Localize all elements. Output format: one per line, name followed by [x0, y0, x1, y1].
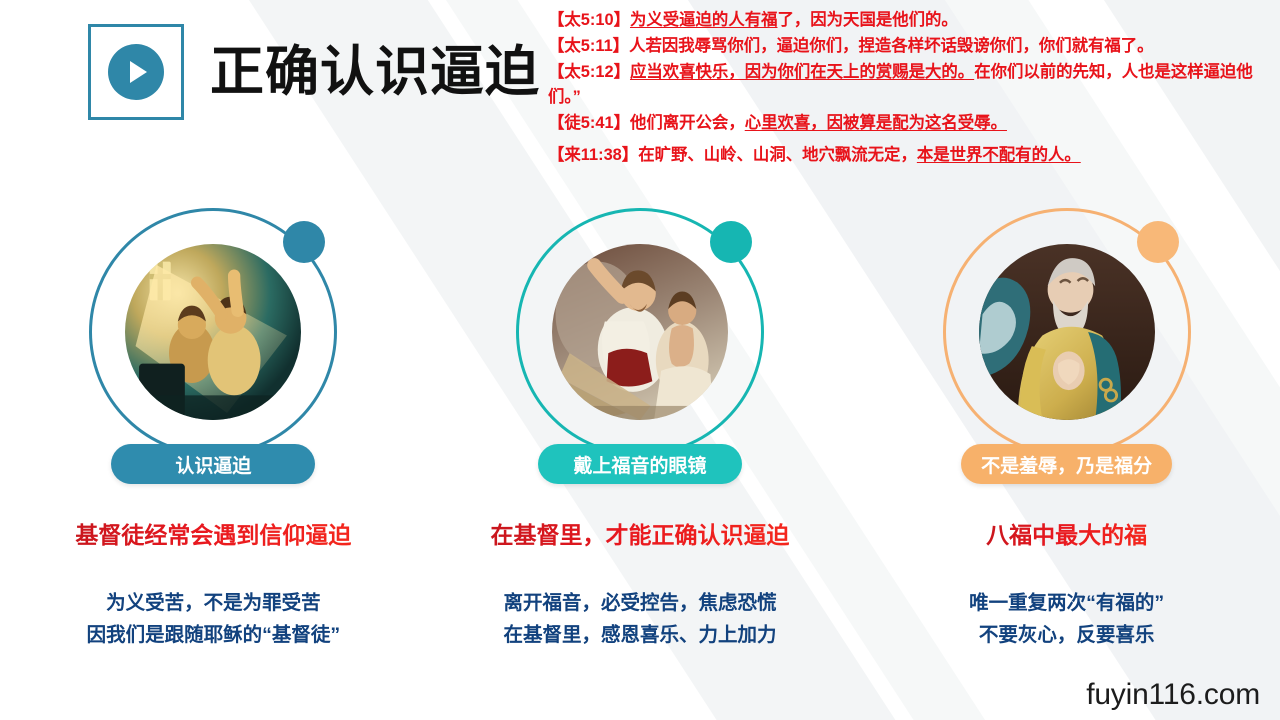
column-blue-text: 离开福音，必受控告，焦虑恐慌 在基督里，感恩喜乐、力上加力 [503, 588, 776, 651]
pill-label[interactable]: 戴上福音的眼镜 [538, 444, 742, 484]
play-button-frame-icon [88, 24, 184, 120]
column-red-heading: 八福中最大的福 [986, 516, 1147, 550]
circle-graphic [516, 208, 764, 456]
column-red-heading: 基督徒经常会遇到信仰逼迫 [75, 516, 351, 550]
column-blue-text: 为义受苦，不是为罪受苦 因我们是跟随耶稣的“基督徒” [87, 588, 341, 651]
blue-line: 因我们是跟随耶稣的“基督徒” [87, 620, 341, 652]
pill-text: 认识逼迫 [175, 451, 251, 478]
saint-peter-praying-photo [979, 244, 1155, 420]
pill-label[interactable]: 不是羞辱，乃是福分 [961, 444, 1172, 484]
scripture-line: 【太5:10】为义受逼迫的人有福了，因为天国是他们的。 [548, 8, 1274, 33]
title-block: 正确认识逼迫 [88, 24, 540, 120]
column-red-heading: 在基督里，才能正确认识逼迫 [490, 516, 789, 550]
column-blue-text: 唯一重复两次“有福的” 不要灰心，反要喜乐 [969, 588, 1164, 651]
pill-text: 戴上福音的眼镜 [573, 451, 706, 478]
site-watermark: fuyin116.com [1086, 678, 1260, 712]
page-title: 正确认识逼迫 [210, 45, 540, 99]
blue-line: 唯一重复两次“有福的” [969, 588, 1164, 620]
paul-and-silas-in-prison-photo [552, 244, 728, 420]
column-recognize-persecution: 认识逼迫 基督徒经常会遇到信仰逼迫 为义受苦，不是为罪受苦 因我们是跟随耶稣的“… [0, 208, 427, 651]
blue-line: 为义受苦，不是为罪受苦 [87, 588, 341, 620]
ring-accent-dot [710, 221, 752, 263]
three-column-section: 认识逼迫 基督徒经常会遇到信仰逼迫 为义受苦，不是为罪受苦 因我们是跟随耶稣的“… [0, 208, 1280, 651]
prisoners-praying-photo [125, 244, 301, 420]
circle-graphic [89, 208, 337, 456]
column-gospel-glasses: 戴上福音的眼镜 在基督里，才能正确认识逼迫 离开福音，必受控告，焦虑恐慌 在基督… [427, 208, 854, 651]
blue-line: 不要灰心，反要喜乐 [969, 620, 1164, 652]
blue-line: 在基督里，感恩喜乐、力上加力 [503, 620, 776, 652]
blue-line: 离开福音，必受控告，焦虑恐慌 [503, 588, 776, 620]
slide-root: 正确认识逼迫 【太5:10】为义受逼迫的人有福了，因为天国是他们的。 【太5:1… [0, 0, 1280, 720]
scripture-line: 【太5:12】应当欢喜快乐，因为你们在天上的赏赐是大的。在你们以前的先知，人也是… [548, 60, 1274, 110]
pill-label[interactable]: 认识逼迫 [111, 444, 315, 484]
column-blessing-not-shame: 不是羞辱，乃是福分 八福中最大的福 唯一重复两次“有福的” 不要灰心，反要喜乐 [853, 208, 1280, 651]
ring-accent-dot [1137, 221, 1179, 263]
scripture-line: 【太5:11】人若因我辱骂你们，逼迫你们，捏造各样坏话毁谤你们，你们就有福了。 [548, 34, 1274, 59]
circle-graphic [943, 208, 1191, 456]
scripture-block: 【太5:10】为义受逼迫的人有福了，因为天国是他们的。 【太5:11】人若因我辱… [548, 8, 1274, 169]
ring-accent-dot [283, 221, 325, 263]
scripture-line: 【徒5:41】他们离开公会，心里欢喜，因被算是配为这名受辱。 [548, 111, 1274, 136]
scripture-line: 【来11:38】在旷野、山岭、山洞、地穴飘流无定，本是世界不配有的人。 [548, 143, 1274, 168]
play-icon [108, 44, 164, 100]
pill-text: 不是羞辱，乃是福分 [981, 451, 1152, 478]
